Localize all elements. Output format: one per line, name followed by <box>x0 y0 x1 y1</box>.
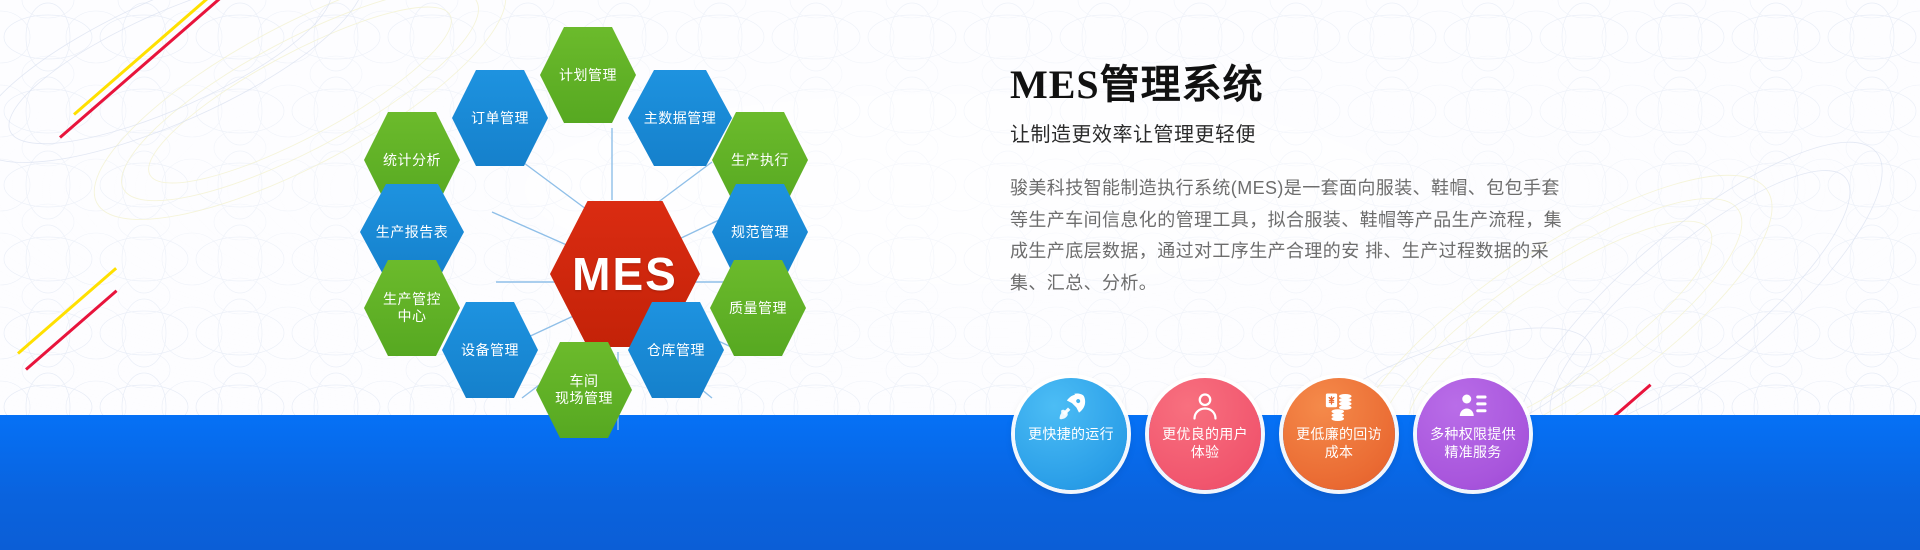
badge-label: 多种权限提供精准服务 <box>1425 425 1521 461</box>
accent-line-red-1 <box>59 0 321 139</box>
hex-label: 统计分析 <box>383 152 441 169</box>
coins-icon <box>1324 391 1354 421</box>
hex-label: 生产报告表 <box>376 224 449 241</box>
user-icon <box>1190 391 1220 421</box>
hex-core-label: MES <box>572 247 678 301</box>
feature-badges: 更快捷的运行 更优良的用户体验 <box>1015 378 1529 490</box>
badge-label: 更低廉的回访成本 <box>1291 425 1387 461</box>
bottom-blue-band <box>0 415 1920 550</box>
badge-better-user-experience[interactable]: 更优良的用户体验 <box>1149 378 1261 490</box>
badge-label: 更快捷的运行 <box>1023 425 1119 443</box>
content-column: MES管理系统 让制造更效率让管理更轻便 骏美科技智能制造执行系统(MES)是一… <box>1010 52 1600 299</box>
accent-line-yellow-1 <box>73 0 332 116</box>
mes-banner: MES 计划管理 订单管理 主数据管理 统计分析 生产执行 生产报告表 规范管理… <box>0 0 1920 550</box>
hex-label: 生产执行 <box>731 152 789 169</box>
accent-line-yellow-2 <box>17 267 117 355</box>
hex-label: 生产管控中心 <box>383 291 441 324</box>
badge-label: 更优良的用户体验 <box>1157 425 1253 461</box>
rocket-icon <box>1056 391 1086 421</box>
user-list-icon <box>1458 391 1488 421</box>
badge-faster-operation[interactable]: 更快捷的运行 <box>1015 378 1127 490</box>
hex-label: 质量管理 <box>729 300 787 317</box>
accent-line-red-2 <box>25 290 118 371</box>
page-subtitle: 让制造更效率让管理更轻便 <box>1010 118 1600 147</box>
badge-lower-revisit-cost[interactable]: 更低廉的回访成本 <box>1283 378 1395 490</box>
hex-label: 订单管理 <box>471 110 529 127</box>
page-title: MES管理系统 <box>1010 52 1600 110</box>
mes-hex-diagram: MES 计划管理 订单管理 主数据管理 统计分析 生产执行 生产报告表 规范管理… <box>400 0 820 550</box>
hex-label: 仓库管理 <box>647 342 705 359</box>
hex-label: 主数据管理 <box>644 110 717 127</box>
description-paragraph: 骏美科技智能制造执行系统(MES)是一套面向服装、鞋帽、包包手套等生产车间信息化… <box>1010 173 1570 299</box>
hex-label: 规范管理 <box>731 224 789 241</box>
hex-label: 车间现场管理 <box>555 373 613 406</box>
hex-label: 计划管理 <box>559 67 617 84</box>
hex-label: 设备管理 <box>461 342 519 359</box>
badge-multi-permission-service[interactable]: 多种权限提供精准服务 <box>1417 378 1529 490</box>
